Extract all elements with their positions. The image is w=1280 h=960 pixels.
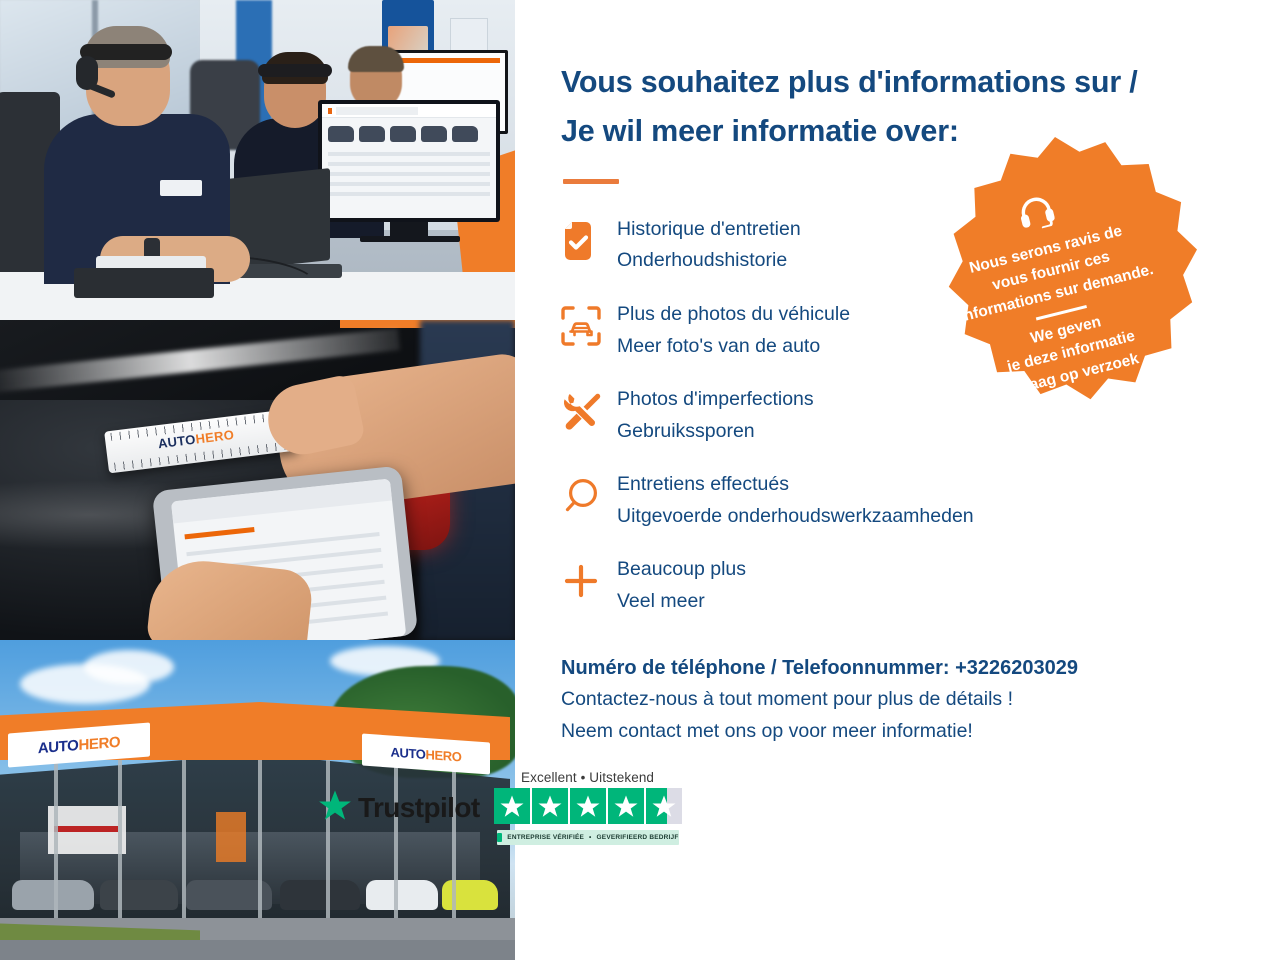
call-center-agents-photo — [0, 0, 515, 320]
check-icon — [497, 833, 503, 842]
page-title-line1: Vous souhaitez plus d'informations sur / — [561, 58, 1236, 107]
info-flyer-page: AUTOHERO — [0, 0, 1280, 960]
trustpilot-rating-label: Excellent • Uitstekend — [521, 770, 654, 785]
sign-logo-part2: HERO — [78, 733, 120, 753]
showroom-poster-decor — [48, 806, 126, 854]
magnifier-icon — [561, 469, 617, 521]
feature-fr-label: Photos d'imperfections — [617, 384, 814, 416]
trustpilot-rating: Excellent • Uitstekend ENTREPRISE VÉRIFI… — [494, 770, 682, 845]
cloud-decor — [84, 650, 174, 684]
showroom-car-decor — [366, 880, 438, 910]
ruler-logo-part1: AUTO — [157, 432, 196, 451]
tablet-on-desk-decor — [74, 268, 214, 298]
ruler-logo-part2: HERO — [195, 427, 235, 447]
trustpilot-stars — [494, 788, 682, 824]
sign-logo-part2: HERO — [426, 746, 462, 764]
verified-nl-label: GEVERIFIEERD BEDRIJF — [597, 834, 679, 841]
star-filled-icon — [494, 788, 530, 824]
feature-nl-label: Uitgevoerde onderhoudswerkzaamheden — [617, 501, 974, 533]
car-inspection-photo: AUTOHERO — [0, 320, 515, 640]
verified-fr-label: ENTREPRISE VÉRIFIÉE — [507, 834, 584, 841]
road-decor — [0, 940, 515, 960]
contact-block: Numéro de téléphone / Telefoonnummer: +3… — [561, 652, 1236, 748]
contact-nl-line: Neem contact met ons op voor meer inform… — [561, 716, 1236, 748]
feature-nl-label: Veel meer — [617, 586, 746, 618]
feature-fr-label: Beaucoup plus — [617, 554, 746, 586]
feature-fr-label: Plus de photos du véhicule — [617, 299, 850, 331]
foreground-monitor-decor — [318, 100, 500, 222]
phone-number-label[interactable]: Numéro de téléphone / Telefoonnummer: +3… — [561, 652, 1236, 684]
verified-business-badge: ENTREPRISE VÉRIFIÉE • GEVERIFIEERD BEDRI… — [497, 830, 679, 845]
trustpilot-star-icon — [318, 789, 352, 827]
star-filled-icon — [608, 788, 644, 824]
star-half-icon — [646, 788, 682, 824]
star-filled-icon — [570, 788, 606, 824]
feature-fr-label: Entretiens effectués — [617, 469, 974, 501]
sign-logo-part1: AUTO — [391, 744, 426, 761]
feature-item-much-more: Beaucoup plus Veel meer — [561, 554, 1236, 617]
feature-nl-label: Meer foto's van de auto — [617, 331, 850, 363]
feature-nl-label: Onderhoudshistorie — [617, 245, 801, 277]
car-scan-icon — [561, 299, 617, 351]
sign-logo-part1: AUTO — [38, 737, 79, 757]
feature-fr-label: Historique d'entretien — [617, 214, 801, 246]
feature-item-maintenance: Entretiens effectués Uitgevoerde onderho… — [561, 469, 1236, 532]
verified-separator: • — [589, 834, 591, 841]
showroom-car-decor — [280, 880, 360, 910]
showroom-car-decor — [100, 880, 178, 910]
trustpilot-wordmark: Trustpilot — [358, 792, 480, 824]
title-divider — [563, 179, 619, 184]
showroom-car-decor — [12, 880, 94, 910]
agent-foreground-figure — [38, 30, 238, 280]
star-filled-icon — [532, 788, 568, 824]
on-request-badge: Nous serons ravis de vous fournir ces in… — [913, 137, 1197, 437]
tools-icon — [561, 384, 617, 436]
interior-orange-wall-decor — [216, 812, 246, 862]
plus-icon — [561, 554, 617, 606]
headset-icon — [1015, 191, 1059, 238]
trustpilot-block[interactable]: Trustpilot Excellent • Uitstekend ENTREP… — [318, 770, 682, 845]
document-check-icon — [561, 214, 617, 266]
contact-fr-line: Contactez-nous à tout moment pour plus d… — [561, 684, 1236, 716]
feature-nl-label: Gebruikssporen — [617, 416, 814, 448]
trustpilot-logo: Trustpilot — [318, 789, 480, 827]
showroom-car-decor — [442, 880, 498, 910]
